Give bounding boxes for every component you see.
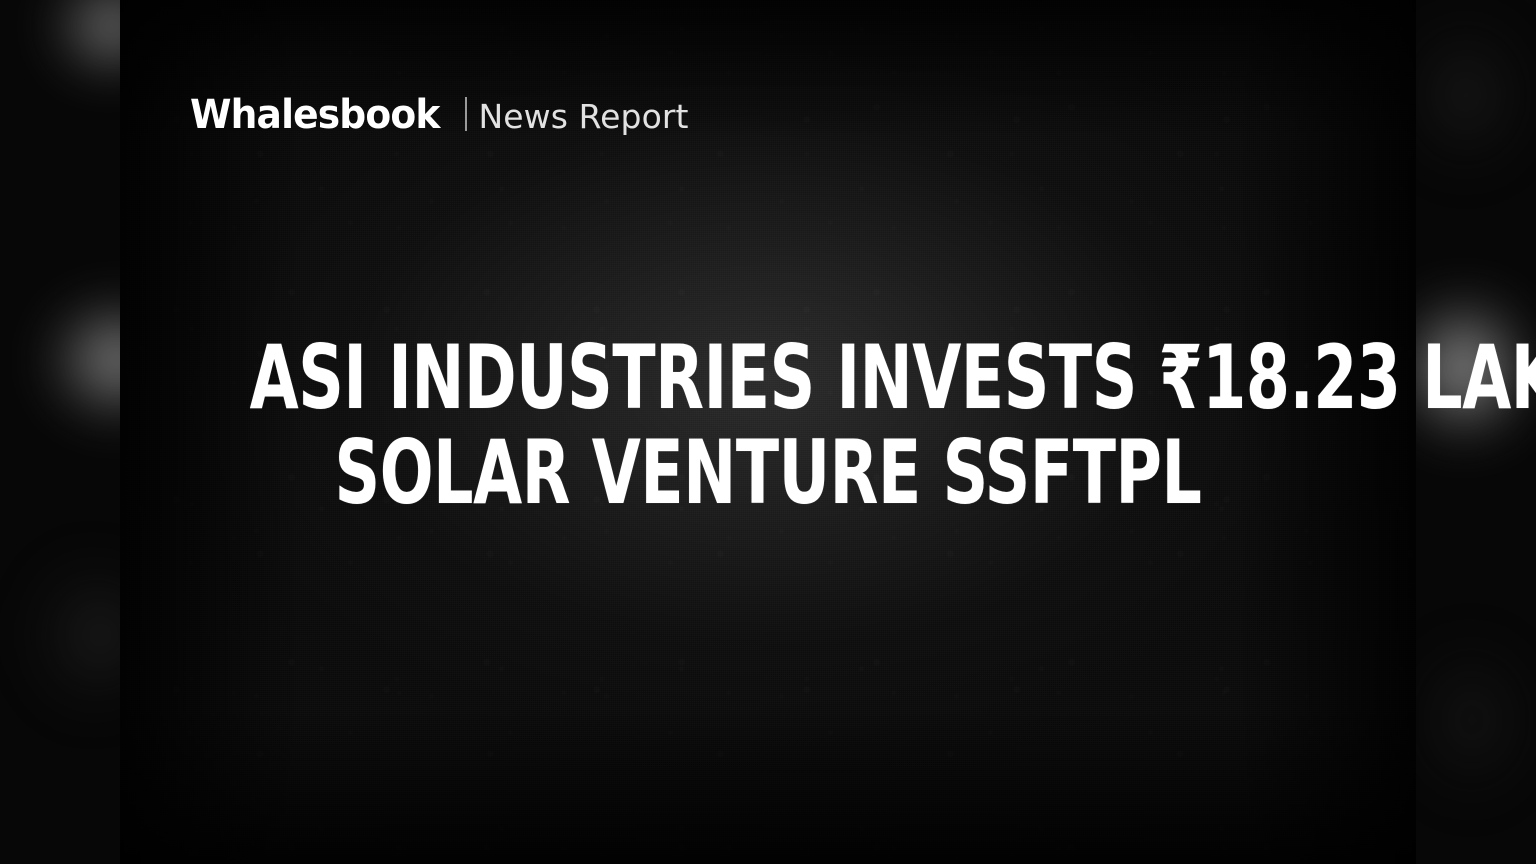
brand-name: Whalesbook — [190, 95, 440, 135]
brand-subtitle: News Report — [478, 100, 688, 133]
page-title: ASI INDUSTRIES INVESTS ₹18.23 LAKHS IN S… — [120, 330, 1416, 520]
backdrop-glow-blob — [1416, 20, 1526, 170]
backdrop-glow-blob — [44, 296, 120, 424]
backdrop-glow-blob — [52, 0, 120, 70]
headline-line-2: SOLAR VENTURE SSFTPL — [250, 425, 1287, 520]
news-report-card: Whalesbook News Report ASI INDUSTRIES IN… — [0, 0, 1536, 864]
brand-lockup: Whalesbook News Report — [190, 94, 689, 135]
backdrop-glow-blob — [30, 560, 120, 710]
right-blurred-band — [1416, 0, 1536, 864]
backdrop-glow-blob — [1416, 640, 1530, 800]
headline-line-1: ASI INDUSTRIES INVESTS ₹18.23 LAKHS IN — [250, 330, 1287, 425]
left-blurred-band — [0, 0, 120, 864]
brand-divider — [465, 97, 467, 131]
